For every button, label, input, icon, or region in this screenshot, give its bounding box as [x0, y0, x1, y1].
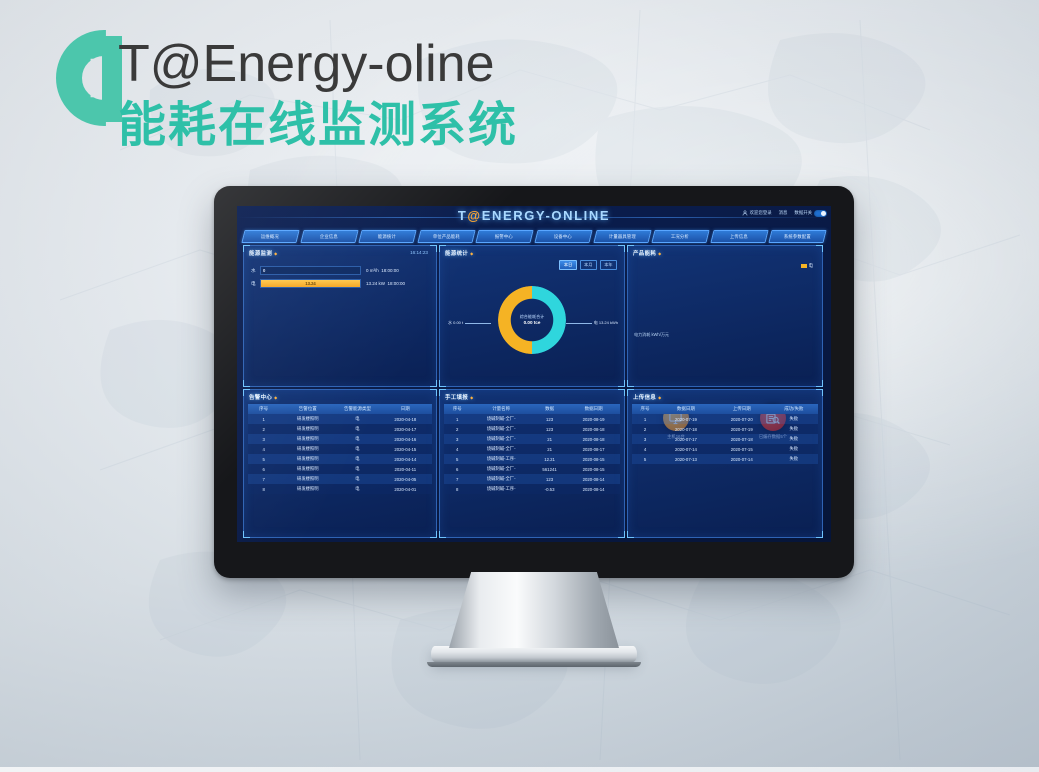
table-cell-1: 2020-07-18: [658, 424, 714, 434]
table-row[interactable]: 4研发楼照明电2020-04-15: [248, 444, 432, 454]
table-cell-2: 2020-07-15: [714, 444, 770, 454]
nav-item-1[interactable]: 企业信息: [300, 230, 358, 243]
legend-swatch-electric: [801, 264, 807, 268]
table-row[interactable]: 2研发楼照明电2020-04-17: [248, 424, 432, 434]
manual-entry-title-text: 手工填报: [445, 395, 468, 401]
nav-item-3[interactable]: 单位产品能耗: [417, 230, 475, 243]
electric-reading-time: 18:00:00: [388, 281, 406, 286]
energy-stats-title-text: 能源统计: [445, 251, 468, 257]
panel-title-upload-info: 上传信息◆: [633, 393, 662, 401]
table-cell-1: 研发楼照明: [279, 424, 336, 434]
logo-text-right: ENERGY-ONLINE: [482, 208, 610, 223]
table-row[interactable]: 1烧碱制碱-全厂-1232020-08-19: [444, 414, 620, 424]
alarm-table-header: 序号 告警位置 告警能源类型 日期: [248, 404, 432, 414]
table-row[interactable]: 7研发楼照明电2020-04-05: [248, 474, 432, 484]
table-cell-0: 6: [248, 464, 279, 474]
upload-col-0: 序号: [632, 404, 658, 414]
panel-title-alarm-center: 告警中心◆: [249, 393, 278, 401]
table-cell-1: 烧碱制碱-全厂-: [470, 424, 532, 434]
table-cell-0: 3: [248, 434, 279, 444]
alarm-center-title-text: 告警中心: [249, 395, 272, 401]
table-cell-3: 2020-08-14: [567, 484, 620, 494]
table-row[interactable]: 52020-07-132020-07-14失败: [632, 454, 818, 464]
table-cell-2: 电: [336, 464, 378, 474]
nav-label-5: 设备中心: [554, 234, 572, 240]
nav-label-6: 计量器具管理: [608, 234, 635, 240]
nav-item-4[interactable]: 报警中心: [476, 230, 534, 243]
legend-label-electric: 电: [809, 263, 813, 269]
title-chinese: 能耗在线监测系统: [118, 102, 518, 150]
manual-col-2: 数据: [532, 404, 567, 414]
title-dot-icon: ◆: [470, 395, 473, 400]
table-cell-2: 电: [336, 444, 378, 454]
upload-col-2: 上传日期: [714, 404, 770, 414]
table-cell-3: 2020-04-15: [379, 444, 432, 454]
user-account-label: 欢迎您登录: [750, 210, 772, 216]
nav-label-7: 工况分析: [671, 234, 689, 240]
table-cell-3: 失败: [770, 454, 818, 464]
title-dot-icon: ◆: [274, 395, 277, 400]
upload-table-body: 12020-07-192020-07-20失败22020-07-182020-0…: [632, 414, 818, 464]
table-cell-3: 2020-08-18: [567, 434, 620, 444]
table-cell-1: 2020-07-17: [658, 434, 714, 444]
water-reading-text: 0 m³/h: [366, 268, 379, 273]
alarm-col-0: 序号: [248, 404, 279, 414]
title-dot-icon: ◆: [658, 251, 661, 256]
table-cell-2: 21: [532, 434, 567, 444]
table-cell-0: 3: [632, 434, 658, 444]
donut-center-title: 综合能耗合计: [520, 314, 545, 320]
table-cell-0: 8: [444, 484, 470, 494]
table-cell-0: 5: [444, 454, 470, 464]
table-cell-3: 2020-04-16: [379, 434, 432, 444]
table-cell-1: 研发楼照明: [279, 414, 336, 424]
table-cell-1: 研发楼照明: [279, 454, 336, 464]
nav-item-7[interactable]: 工况分析: [652, 230, 710, 243]
table-row[interactable]: 7烧碱制碱-全厂-1232020-08-14: [444, 474, 620, 484]
range-button-day[interactable]: 本日: [559, 260, 576, 270]
table-cell-2: 电: [336, 484, 378, 494]
manual-col-1: 计量名称: [470, 404, 532, 414]
energy-row-water-value: 0: [261, 267, 263, 275]
upload-col-1: 数据日期: [658, 404, 714, 414]
table-cell-3: 2020-08-15: [567, 454, 620, 464]
panel-title-energy-statistics: 能源统计◆: [445, 249, 474, 257]
table-cell-1: 烧碱制碱-全厂-: [470, 444, 532, 454]
table-cell-1: 烧碱制碱-全厂-: [470, 464, 532, 474]
table-cell-2: 21: [532, 444, 567, 454]
range-button-group: 本日 本月 本年: [559, 260, 617, 270]
product-energy-legend: 电: [801, 263, 813, 269]
table-cell-2: 2020-07-18: [714, 434, 770, 444]
table-cell-0: 2: [632, 424, 658, 434]
alarm-col-1: 告警位置: [279, 404, 336, 414]
nav-item-5[interactable]: 设备中心: [534, 230, 592, 243]
message-item[interactable]: 消息: [779, 210, 788, 216]
donut-left-label: 水 0.00 t: [448, 320, 491, 326]
panel-energy-statistics: 能源统计◆ 本日 本月 本年 水 0.00 t 电 13.24 kWh: [439, 245, 625, 387]
panel-energy-monitor: 能源监测◆ 16:14:23 水 0 0 m³/h 18:00:00 电: [243, 245, 437, 387]
nav-item-8[interactable]: 上传信息: [710, 230, 768, 243]
panel-manual-entry: 手工填报◆ 序号 计量名称 数据 数据日期 1烧碱制碱-全厂-1232020-0…: [439, 389, 625, 538]
alarm-col-3: 日期: [379, 404, 432, 414]
table-cell-0: 4: [632, 444, 658, 454]
panel-alarm-center: 告警中心◆ 序号 告警位置 告警能源类型 日期 1研发楼照明电2020-04-1…: [243, 389, 437, 538]
table-row[interactable]: 5研发楼照明电2020-04-14: [248, 454, 432, 464]
product-energy-yaxis-label: 电力消耗 kWh/万元: [634, 332, 669, 338]
manual-table-body: 1烧碱制碱-全厂-1232020-08-192烧碱制碱-全厂-1232020-0…: [444, 414, 620, 494]
table-cell-2: 电: [336, 424, 378, 434]
table-cell-1: 烧碱制碱-全厂-: [470, 434, 532, 444]
table-cell-2: 123: [532, 414, 567, 424]
table-row[interactable]: 6烧碱制碱-全厂-5612412020-08-15: [444, 464, 620, 474]
nav-label-3: 单位产品能耗: [433, 234, 460, 240]
panel-product-energy: 产品能耗◆ 电 电力消耗 kWh/万元: [627, 245, 823, 387]
table-cell-0: 4: [248, 444, 279, 454]
table-cell-2: 2020-07-19: [714, 424, 770, 434]
panel-title-manual-entry: 手工填报◆: [445, 393, 474, 401]
nav-label-9: 系统参数配置: [784, 234, 811, 240]
table-row[interactable]: 1研发楼照明电2020-04-18: [248, 414, 432, 424]
energy-row-electric-bar: 13.24: [260, 279, 361, 289]
table-row[interactable]: 32020-07-172020-07-18失败: [632, 434, 818, 444]
donut-center-label: 综合能耗合计 0.00 tce: [520, 314, 545, 326]
table-cell-0: 5: [248, 454, 279, 464]
table-cell-3: 2020-04-05: [379, 474, 432, 484]
nav-item-6[interactable]: 计量器具管理: [593, 230, 651, 243]
energy-row-electric-value: 13.24: [261, 280, 360, 288]
donut-center-value: 0.00 tce: [520, 320, 545, 326]
table-cell-0: 1: [248, 414, 279, 424]
toggle-label: 数据开关: [794, 210, 812, 216]
energy-row-water-bar: 0: [260, 266, 361, 276]
table-cell-2: 电: [336, 474, 378, 484]
table-row[interactable]: 8烧碱制碱-工序--0.532020-08-14: [444, 484, 620, 494]
energy-row-water-label: 水: [251, 268, 260, 274]
table-row[interactable]: 12020-07-192020-07-20失败: [632, 414, 818, 424]
table-cell-0: 1: [632, 414, 658, 424]
electric-reading-text: 13.24 kW: [366, 281, 385, 286]
range-button-month[interactable]: 本月: [580, 260, 597, 270]
manual-table-header: 序号 计量名称 数据 数据日期: [444, 404, 620, 414]
panel-grid: 能源监测◆ 16:14:23 水 0 0 m³/h 18:00:00 电: [243, 245, 825, 538]
panel-title-product-energy: 产品能耗◆: [633, 249, 662, 257]
table-cell-2: 电: [336, 434, 378, 444]
data-toggle-switch[interactable]: [814, 210, 827, 217]
donut-right-label: 电 13.24 kWh: [566, 320, 618, 326]
dashboard: T@ENERGY-ONLINE 欢迎您登录 消息 数据开关: [237, 206, 831, 542]
table-cell-1: 2020-07-14: [658, 444, 714, 454]
title-dot-icon: ◆: [658, 395, 661, 400]
monitor: T@ENERGY-ONLINE 欢迎您登录 消息 数据开关: [214, 186, 854, 578]
nav-item-2[interactable]: 能源统计: [359, 230, 417, 243]
upload-info-title-text: 上传信息: [633, 395, 656, 401]
donut-right-label-text: 电 13.24 kWh: [594, 320, 618, 326]
energy-row-water: 水 0 0 m³/h 18:00:00: [251, 266, 430, 275]
table-cell-3: 失败: [770, 424, 818, 434]
table-row[interactable]: 8研发楼照明电2020-04-01: [248, 484, 432, 494]
alarm-table-body: 1研发楼照明电2020-04-182研发楼照明电2020-04-173研发楼照明…: [248, 414, 432, 494]
table-cell-0: 2: [444, 424, 470, 434]
water-reading-time: 18:00:00: [381, 268, 399, 273]
table-cell-3: 失败: [770, 444, 818, 454]
manual-entry-table: 序号 计量名称 数据 数据日期 1烧碱制碱-全厂-1232020-08-192烧…: [444, 404, 620, 494]
table-cell-1: 研发楼照明: [279, 444, 336, 454]
table-cell-3: 2020-04-01: [379, 484, 432, 494]
table-cell-1: 研发楼照明: [279, 484, 336, 494]
table-cell-0: 2: [248, 424, 279, 434]
table-cell-2: -0.53: [532, 484, 567, 494]
energy-row-electric-reading: 13.24 kW 18:00:00: [361, 281, 430, 286]
nav-label-1: 企业信息: [320, 234, 338, 240]
table-cell-3: 失败: [770, 434, 818, 444]
headline: T@Energy-oline 能耗在线监测系统: [56, 22, 616, 152]
upload-table-header: 序号 数据日期 上传日期 成功/失败: [632, 404, 818, 414]
product-energy-title-text: 产品能耗: [633, 251, 656, 257]
user-bar: 欢迎您登录 消息 数据开关: [742, 210, 827, 217]
nav-item-9[interactable]: 系统参数配置: [769, 230, 827, 243]
user-account[interactable]: 欢迎您登录: [742, 210, 772, 216]
table-cell-0: 6: [444, 464, 470, 474]
table-cell-3: 2020-08-15: [567, 464, 620, 474]
table-cell-2: 12.21: [532, 454, 567, 464]
monitor-screen: T@ENERGY-ONLINE 欢迎您登录 消息 数据开关: [237, 206, 831, 542]
table-cell-1: 烧碱制碱-工序-: [470, 484, 532, 494]
manual-col-0: 序号: [444, 404, 470, 414]
title-dot-icon: ◆: [470, 251, 473, 256]
stand-base-foot: [427, 662, 641, 667]
logo-at-icon: @: [467, 208, 481, 223]
logo-text-left: T: [458, 208, 468, 223]
alarm-col-2: 告警能源类型: [336, 404, 378, 414]
range-button-year[interactable]: 本年: [600, 260, 617, 270]
table-cell-1: 2020-07-19: [658, 414, 714, 424]
energy-row-electric: 电 13.24 13.24 kW 18:00:00: [251, 279, 430, 288]
monitor-stand: [419, 572, 649, 667]
table-row[interactable]: 22020-07-182020-07-19失败: [632, 424, 818, 434]
table-cell-3: 2020-08-17: [567, 444, 620, 454]
user-icon: [742, 210, 748, 216]
table-cell-2: 123: [532, 474, 567, 484]
table-cell-2: 2020-07-14: [714, 454, 770, 464]
table-cell-0: 7: [248, 474, 279, 484]
message-label: 消息: [779, 210, 788, 216]
table-cell-2: 电: [336, 414, 378, 424]
nav-label-8: 上传信息: [730, 234, 748, 240]
table-cell-3: 2020-04-14: [379, 454, 432, 464]
table-cell-2: 电: [336, 454, 378, 464]
stand-neck: [449, 572, 619, 648]
table-cell-0: 3: [444, 434, 470, 444]
table-cell-1: 研发楼照明: [279, 464, 336, 474]
table-cell-2: 2020-07-20: [714, 414, 770, 424]
stand-base: [431, 646, 637, 662]
energy-row-electric-label: 电: [251, 281, 260, 287]
table-row[interactable]: 6研发楼照明电2020-04-11: [248, 464, 432, 474]
table-cell-1: 烧碱制碱-全厂-: [470, 474, 532, 484]
donut-left-label-text: 水 0.00 t: [448, 320, 463, 326]
table-row[interactable]: 5烧碱制碱-工序-12.212020-08-15: [444, 454, 620, 464]
title-dot-icon: ◆: [274, 251, 277, 256]
nav-label-2: 能源统计: [378, 234, 396, 240]
table-cell-1: 烧碱制碱-工序-: [470, 454, 532, 464]
nav-bar: 运维概况 企业信息 能源统计 单位产品能耗 报警中心 设备中心 计量器具管理 工…: [243, 230, 825, 242]
nav-label-4: 报警中心: [496, 234, 514, 240]
table-cell-2: 561241: [532, 464, 567, 474]
table-row[interactable]: 4烧碱制碱-全厂-212020-08-17: [444, 444, 620, 454]
table-cell-3: 2020-04-18: [379, 414, 432, 424]
data-toggle-group[interactable]: 数据开关: [794, 210, 827, 217]
energy-row-water-reading: 0 m³/h 18:00:00: [361, 268, 430, 273]
table-cell-3: 2020-08-19: [567, 414, 620, 424]
brand-logo-icon: [56, 30, 122, 138]
dashboard-header: T@ENERGY-ONLINE 欢迎您登录 消息 数据开关: [237, 206, 831, 231]
table-cell-0: 5: [632, 454, 658, 464]
nav-item-0[interactable]: 运维概况: [241, 230, 299, 243]
table-cell-3: 2020-08-14: [567, 474, 620, 484]
energy-monitor-title-text: 能源监测: [249, 251, 272, 257]
table-row[interactable]: 3烧碱制碱-全厂-212020-08-18: [444, 434, 620, 444]
table-row[interactable]: 2烧碱制碱-全厂-1232020-08-18: [444, 424, 620, 434]
alarm-table: 序号 告警位置 告警能源类型 日期 1研发楼照明电2020-04-182研发楼照…: [248, 404, 432, 494]
table-cell-0: 8: [248, 484, 279, 494]
table-cell-3: 失败: [770, 414, 818, 424]
table-row[interactable]: 3研发楼照明电2020-04-16: [248, 434, 432, 444]
energy-donut-chart: 综合能耗合计 0.00 tce: [498, 286, 566, 354]
panel-title-energy-monitor: 能源监测◆: [249, 249, 278, 257]
table-cell-1: 研发楼照明: [279, 434, 336, 444]
table-cell-3: 2020-04-11: [379, 464, 432, 474]
title-english: T@Energy-oline: [118, 38, 495, 90]
upload-col-3: 成功/失败: [770, 404, 818, 414]
table-cell-0: 1: [444, 414, 470, 424]
table-cell-2: 123: [532, 424, 567, 434]
upload-table: 序号 数据日期 上传日期 成功/失败 12020-07-192020-07-20…: [632, 404, 818, 464]
table-cell-0: 4: [444, 444, 470, 454]
table-cell-3: 2020-04-17: [379, 424, 432, 434]
table-cell-1: 研发楼照明: [279, 474, 336, 484]
table-cell-0: 7: [444, 474, 470, 484]
manual-col-3: 数据日期: [567, 404, 620, 414]
energy-monitor-time: 16:14:23: [410, 250, 428, 255]
table-cell-3: 2020-08-18: [567, 424, 620, 434]
table-row[interactable]: 42020-07-142020-07-15失败: [632, 444, 818, 454]
nav-label-0: 运维概况: [261, 234, 279, 240]
table-cell-1: 烧碱制碱-全厂-: [470, 414, 532, 424]
dashboard-logo: T@ENERGY-ONLINE: [458, 208, 610, 223]
panel-upload-info: 上传信息◆ 主机16台: [627, 389, 823, 538]
table-cell-1: 2020-07-13: [658, 454, 714, 464]
